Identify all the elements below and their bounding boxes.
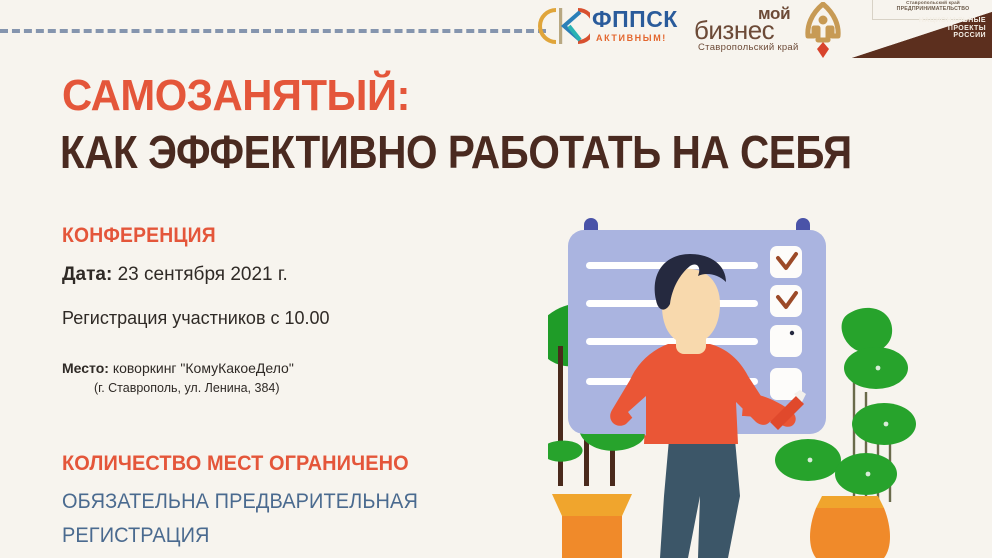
event-date: Дата: 23 сентября 2021 г. [62, 264, 288, 286]
national-projects-tag-line1: Ставропольский край [878, 0, 988, 5]
event-type-label: КОНФЕРЕНЦИЯ [62, 224, 216, 248]
moy-biznes-line2: бизнес [694, 17, 774, 43]
event-date-label: Дата: [62, 264, 112, 285]
fppsk-logo: ФППСК АКТИВНЫМ! [538, 4, 683, 52]
checkbox-3[interactable] [770, 325, 802, 357]
checklist-illustration [548, 196, 992, 558]
rocket-pin-icon [802, 2, 844, 58]
fppsk-logo-mark [538, 6, 590, 46]
header-strip: ФППСК АКТИВНЫМ! мой бизнес Ставропольски… [0, 0, 992, 62]
moy-biznes-region: Ставропольский край [698, 42, 799, 53]
event-date-value: 23 сентября 2021 г. [118, 264, 288, 285]
event-place-label: Место: [62, 360, 109, 376]
national-projects-logo: Ставропольский край ПРЕДПРИНИМАТЕЛЬСТВО … [852, 0, 992, 58]
dashed-divider [0, 29, 546, 33]
national-projects-line1: НАЦИОНАЛЬНЫЕ [882, 17, 986, 25]
seats-limited-notice: КОЛИЧЕСТВО МЕСТ ОГРАНИЧЕНО [62, 452, 409, 476]
event-place-value: коворкинг "КомуКакоеДело" [113, 360, 294, 376]
poster-canvas: ФППСК АКТИВНЫМ! мой бизнес Ставропольски… [0, 0, 992, 558]
person-pants [660, 428, 740, 558]
national-projects-title: НАЦИОНАЛЬНЫЕ ПРОЕКТЫ РОССИИ [882, 17, 986, 40]
fppsk-wordmark: ФППСК [592, 7, 678, 31]
fppsk-tagline: АКТИВНЫМ! [596, 33, 667, 43]
headline-secondary: КАК ЭФФЕКТИВНО РАБОТАТЬ НА СЕБЯ [60, 126, 852, 178]
event-place: Место: коворкинг "КомуКакоеДело" [62, 360, 294, 376]
illustration-svg [548, 196, 992, 558]
headline-primary: САМОЗАНЯТЫЙ: [62, 72, 410, 120]
moy-biznes-logo: мой бизнес Ставропольский край [692, 2, 852, 56]
national-projects-line3: РОССИИ [882, 32, 986, 40]
checkbox-2[interactable] [770, 285, 802, 317]
event-place-address: (г. Ставрополь, ул. Ленина, 384) [94, 381, 280, 395]
checkbox-1[interactable] [770, 246, 802, 278]
registration-time: Регистрация участников с 10.00 [62, 308, 330, 329]
board-line-3 [586, 338, 758, 345]
registration-required-line1: ОБЯЗАТЕЛЬНА ПРЕДВАРИТЕЛЬНАЯ [62, 490, 418, 514]
national-projects-line2: ПРОЕКТЫ [882, 25, 986, 33]
registration-required-line2: РЕГИСТРАЦИЯ [62, 524, 210, 548]
pen-dot [790, 331, 794, 335]
